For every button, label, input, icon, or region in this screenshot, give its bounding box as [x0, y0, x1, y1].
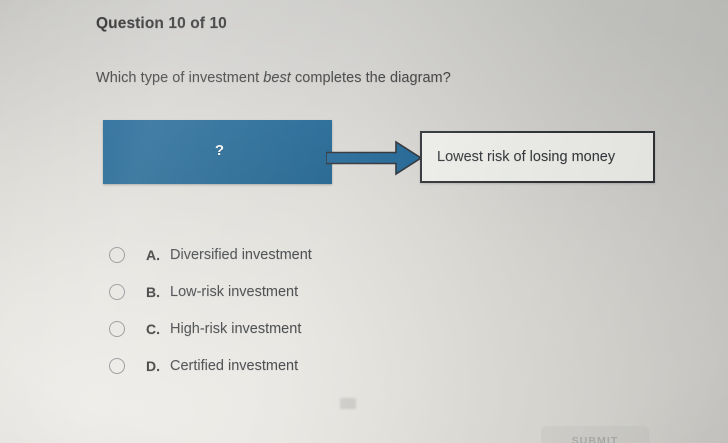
- question-prompt-part-2: completes the diagram?: [291, 70, 451, 86]
- radio-button-icon-c[interactable]: [109, 321, 125, 337]
- radio-button-icon-d[interactable]: [109, 358, 125, 374]
- question-prompt: Which type of investment best completes …: [96, 70, 451, 86]
- right-arrow-icon: [326, 138, 426, 178]
- answer-choice-letter-a: A.: [146, 247, 164, 263]
- answer-choice-d[interactable]: D. Certified investment: [109, 347, 312, 384]
- answer-choice-letter-c: C.: [146, 321, 164, 337]
- question-prompt-part-1: Which type of investment: [96, 70, 263, 86]
- answer-choice-b[interactable]: B. Low-risk investment: [109, 273, 312, 310]
- radio-button-icon-b[interactable]: [109, 284, 125, 300]
- answer-choice-text-b: Low-risk investment: [170, 284, 298, 300]
- question-prompt-emphasis: best: [263, 70, 291, 86]
- answer-choice-text-d: Certified investment: [170, 358, 298, 374]
- answer-choice-letter-b: B.: [146, 284, 164, 300]
- diagram-target-box-label: Lowest risk of losing money: [437, 149, 615, 165]
- question-counter: Question 10 of 10: [96, 15, 227, 33]
- quiz-content: Question 10 of 10 Which type of investme…: [0, 0, 728, 443]
- submit-button-label: SUBMIT: [572, 435, 619, 443]
- diagram-target-box: Lowest risk of losing money: [420, 131, 655, 183]
- answer-choice-text-c: High-risk investment: [170, 321, 301, 337]
- answer-choice-list: A. Diversified investment B. Low-risk in…: [109, 236, 312, 384]
- diagram-source-box: ?: [103, 120, 332, 184]
- answer-choice-text-a: Diversified investment: [170, 247, 312, 263]
- diagram-source-box-label: ?: [215, 142, 224, 159]
- answer-choice-c[interactable]: C. High-risk investment: [109, 310, 312, 347]
- answer-choice-letter-d: D.: [146, 358, 164, 374]
- screen-smudge: [340, 398, 356, 409]
- answer-choice-a[interactable]: A. Diversified investment: [109, 236, 312, 273]
- submit-button[interactable]: SUBMIT: [541, 426, 649, 443]
- photographed-screen: Question 10 of 10 Which type of investme…: [0, 0, 728, 443]
- radio-button-icon-a[interactable]: [109, 247, 125, 263]
